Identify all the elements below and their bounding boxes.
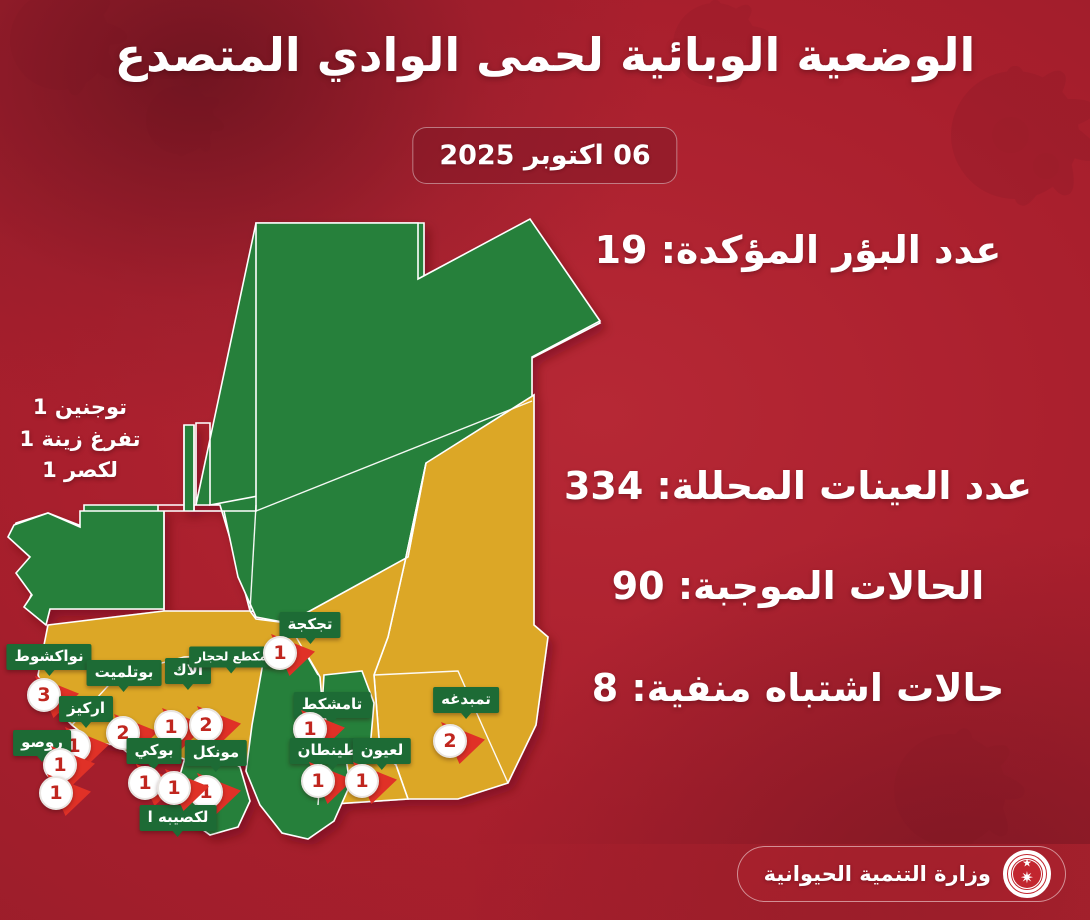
map-label-magta-lahjar: مكطع لحجار (189, 647, 273, 668)
ministry-badge: ★ ✷ وزارة التنمية الحيوانية (737, 846, 1066, 902)
ministry-name: وزارة التنمية الحيوانية (764, 862, 991, 886)
pin-count-badge: 1 (157, 771, 191, 805)
map-label-nouakchott: نواكشوط (6, 644, 91, 670)
mauritania-map: نواكشوط 3 اركيز 1 بوتلميت 2 ألاك 1 مكطع … (0, 205, 628, 865)
pin-count-badge: 1 (263, 636, 297, 670)
map-label-boutilimit: بوتلميت (87, 660, 162, 686)
page-title: الوضعية الوبائية لحمى الوادي المتصدع (42, 26, 1048, 85)
infographic-poster: الوضعية الوبائية لحمى الوادي المتصدع 06 … (0, 0, 1090, 920)
map-label-timbedra: تمبدغه (433, 687, 499, 713)
map-pin-aioun[interactable]: 1 (345, 760, 399, 806)
pin-count-badge: 2 (189, 708, 223, 742)
date-badge: 06 اكتوبر 2025 (412, 127, 677, 184)
map-pin-tidjikja[interactable]: 1 (263, 632, 317, 678)
pin-count-badge: 1 (39, 776, 73, 810)
map-label-boghe: بوكي (127, 738, 182, 764)
map-pin-timbedra[interactable]: 2 (433, 720, 487, 766)
map-label-monguel: مونكل (185, 740, 247, 766)
pin-count-badge: 1 (301, 764, 335, 798)
map-pin-lekseiba[interactable]: 1 (157, 767, 211, 813)
ministry-seal-icon: ★ ✷ (1003, 850, 1051, 898)
map-pin-coast-trarza[interactable]: 1 (39, 772, 93, 818)
pin-count-badge: 1 (345, 764, 379, 798)
pin-count-badge: 2 (433, 724, 467, 758)
pin-count-badge: 3 (27, 678, 61, 712)
map-label-arkeiz: اركيز (59, 696, 113, 722)
